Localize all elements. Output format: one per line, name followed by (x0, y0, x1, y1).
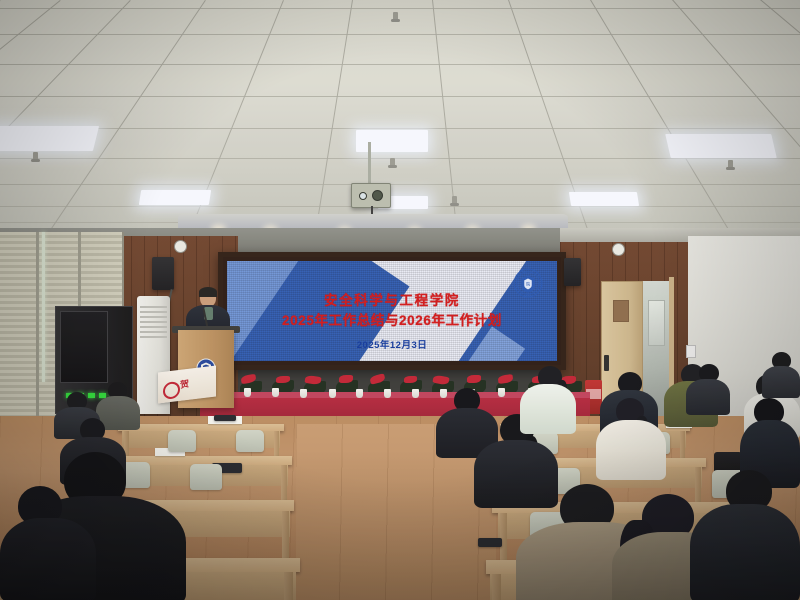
projector-lens-icon (359, 192, 367, 200)
projector-lens-icon (372, 190, 383, 201)
ceiling-light-panel (665, 134, 777, 158)
banner-seal-icon (163, 381, 180, 400)
light-switch[interactable] (686, 345, 696, 358)
water-cup (244, 388, 251, 397)
attendee-cream-puffer (596, 398, 666, 476)
table-leg (492, 574, 501, 600)
ceiling-light-panel (139, 190, 211, 205)
table-leg (680, 431, 685, 461)
water-cup (300, 389, 307, 398)
corridor-cabinet (648, 300, 665, 346)
ceiling-light-panel (0, 126, 99, 151)
attendee-right-edge (690, 470, 800, 600)
sprinkler-head-icon (728, 160, 733, 169)
attendee-far-right-back (762, 352, 800, 392)
sprinkler-head-icon (452, 196, 457, 205)
university-emblem-icon: 院 (513, 268, 543, 298)
table-leg (281, 465, 287, 505)
chair (236, 430, 264, 452)
attendee-back-right (686, 364, 730, 408)
slide-title-line-1: 安全科学与工程学院 (227, 289, 557, 309)
notebook (478, 538, 502, 547)
door-window (613, 300, 629, 322)
door-handle-icon[interactable] (604, 355, 609, 371)
svg-text:院: 院 (526, 281, 530, 287)
projector-mount-pole (368, 142, 371, 184)
wall-clock-icon (174, 240, 187, 253)
chair (168, 430, 196, 452)
attendee-mint-puffer (520, 366, 576, 428)
led-presentation-screen[interactable]: 院 安全科学与工程学院 2025年工作总结与2026年工作计划 2025年12月… (218, 252, 566, 370)
wall-speaker-left (152, 257, 174, 290)
wall-speaker-right (564, 258, 581, 286)
banner-ink-text: 贺 (180, 377, 189, 391)
attendee-left-extra (0, 486, 96, 600)
blind-rod (42, 232, 45, 382)
water-cup (272, 388, 279, 397)
water-cup (498, 388, 505, 397)
ceiling-light-panel (569, 192, 639, 206)
slide-date-line: 2025年12月3日 (227, 337, 557, 351)
water-cup (384, 389, 391, 398)
chair (190, 464, 222, 490)
table-leg (284, 572, 293, 600)
wall-clock-icon (612, 243, 625, 256)
ceiling (0, 0, 800, 236)
presenter-hair (199, 287, 217, 297)
notebook (214, 415, 236, 421)
sprinkler-head-icon (393, 12, 398, 21)
ceiling-projector (351, 183, 391, 208)
ceiling-light-panel (356, 130, 428, 152)
water-cup (356, 389, 363, 398)
sprinkler-head-icon (390, 158, 395, 167)
table-leg (282, 511, 289, 563)
water-cup (329, 389, 336, 398)
slide-canvas: 院 安全科学与工程学院 2025年工作总结与2026年工作计划 2025年12月… (227, 261, 557, 361)
sprinkler-head-icon (33, 152, 38, 161)
conference-room-photo: 院 安全科学与工程学院 2025年工作总结与2026年工作计划 2025年12月… (0, 0, 800, 600)
slide-title-line-2: 2025年工作总结与2026年工作计划 (227, 309, 557, 329)
water-cup (412, 389, 419, 398)
